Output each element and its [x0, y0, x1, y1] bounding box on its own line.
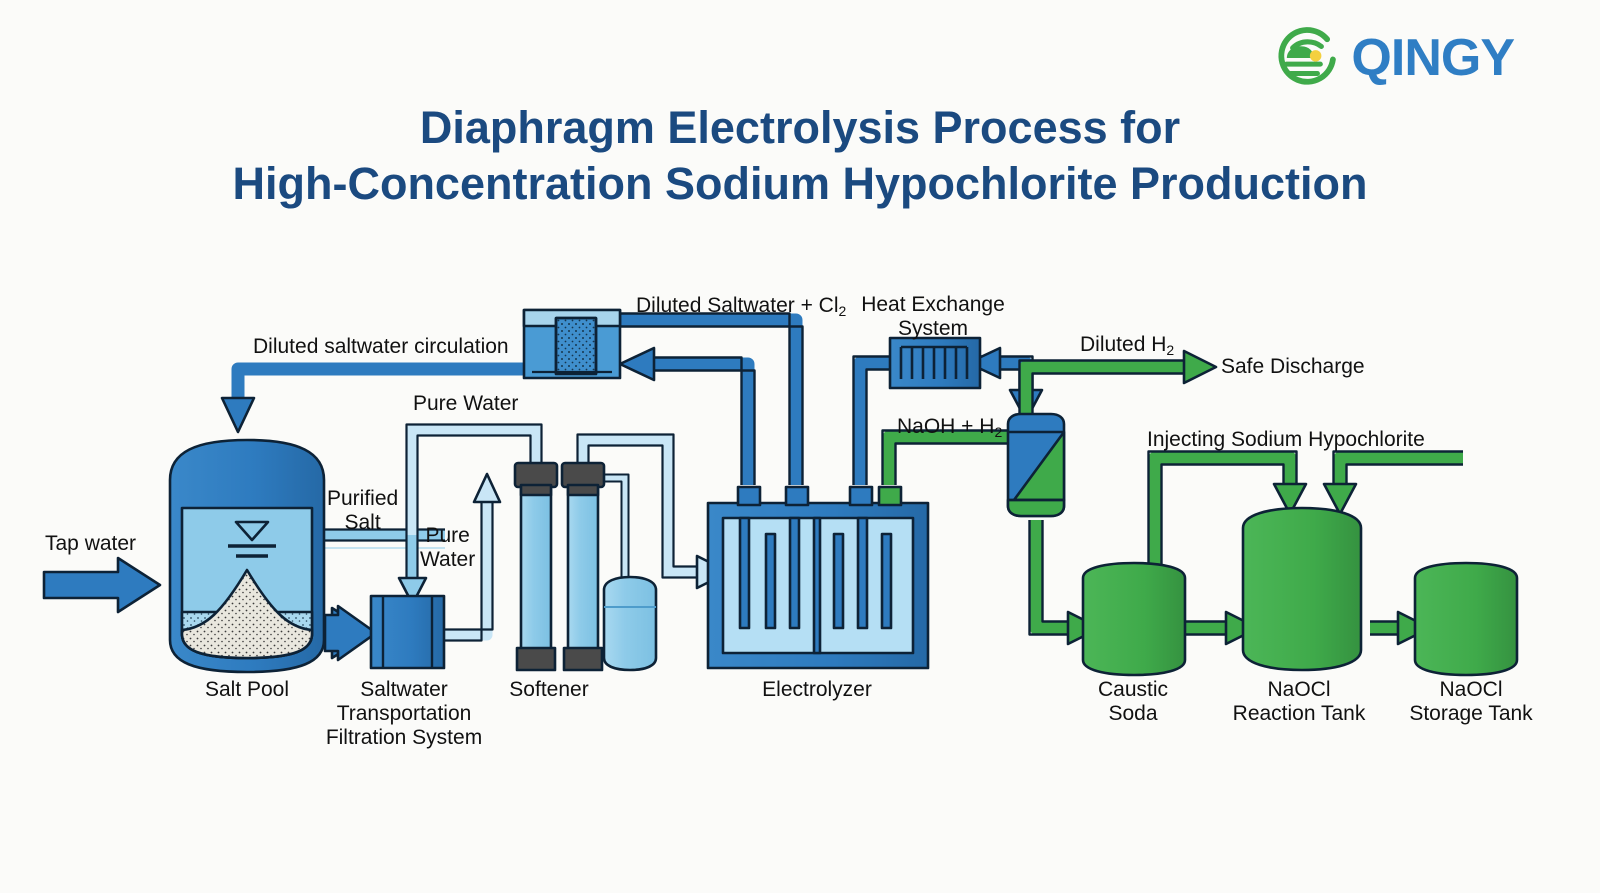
- equipment-brine-tank: [604, 577, 656, 670]
- equipment-salt-pool: [170, 440, 324, 672]
- label-naocl-reaction-tank: NaOClReaction Tank: [1233, 678, 1366, 726]
- equipment-electrolyzer: [708, 487, 928, 668]
- equipment-naocl-reaction-tank: [1243, 508, 1361, 670]
- label-injecting-sodium-hypochlorite: Injecting Sodium Hypochlorite: [1147, 428, 1425, 452]
- label-softener: Softener: [509, 678, 588, 702]
- equipment-separator: [1008, 414, 1064, 516]
- label-pure-water-top: Pure Water: [413, 392, 518, 416]
- label-heat-exchange-system: Heat ExchangeSystem: [861, 293, 1005, 341]
- equipment-softener: [515, 463, 604, 670]
- pipe-electrolyzer-to-circulation-top: [620, 314, 803, 486]
- label-tap-water: Tap water: [45, 532, 136, 556]
- pipe-diluted-h2-safe-discharge: [1020, 351, 1217, 420]
- equipment-saltwater-filtration: [371, 596, 444, 668]
- label-naoh-h2: NaOH + H2: [897, 415, 1002, 439]
- pipe-electrolyzer-to-circulation-return: [620, 348, 755, 485]
- label-diluted-h2: Diluted H2: [1080, 333, 1174, 357]
- label-salt-pool: Salt Pool: [205, 678, 289, 702]
- arrow-tap-water: [44, 558, 160, 612]
- pipe-injecting-naocl-right: [1324, 452, 1463, 515]
- equipment-heat-exchanger: [890, 338, 980, 388]
- pipe-saltpool-to-filtration: [318, 606, 376, 660]
- equipment-caustic-soda: [1083, 563, 1185, 675]
- label-electrolyzer: Electrolyzer: [762, 678, 872, 702]
- label-diluted-saltwater-cl2: Diluted Saltwater + Cl2: [636, 294, 846, 318]
- label-diluted-saltwater-circulation: Diluted saltwater circulation: [253, 335, 509, 359]
- label-safe-discharge: Safe Discharge: [1221, 355, 1365, 379]
- label-caustic-soda: CausticSoda: [1098, 678, 1168, 726]
- label-saltwater-filtration: SaltwaterTransportationFiltration System: [326, 678, 482, 750]
- label-purified-salt: PurifiedSalt: [327, 487, 398, 535]
- equipment-naocl-storage-tank: [1415, 563, 1517, 675]
- equipment-circulation-tank: [524, 310, 620, 378]
- diagram-canvas: QINGY Diaphragm Electrolysis Process for…: [0, 0, 1600, 893]
- label-naocl-storage-tank: NaOClStorage Tank: [1409, 678, 1532, 726]
- label-pure-water-mid: PureWater: [420, 524, 475, 572]
- pipe-softener-to-electrolyzer: [578, 435, 730, 589]
